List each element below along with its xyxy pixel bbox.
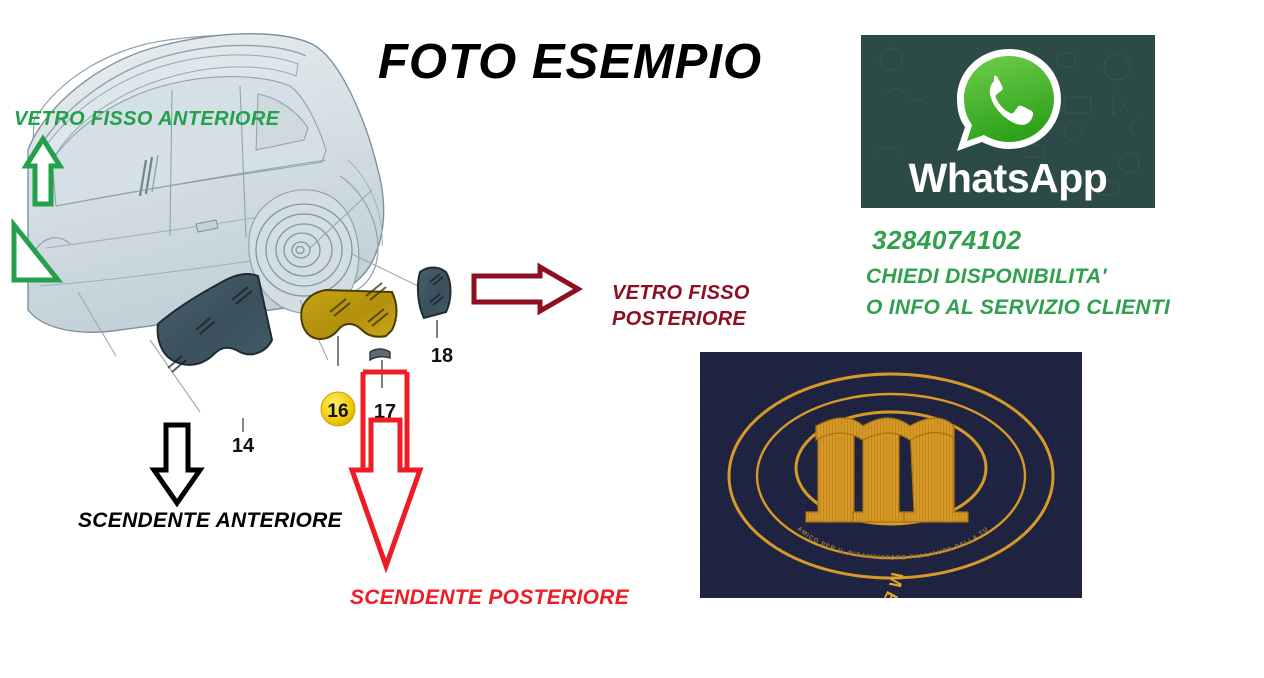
contact-line-2: O INFO AL SERVIZIO CLIENTI — [866, 296, 1170, 320]
poster-canvas: 14 16 17 — [0, 0, 1264, 678]
label-vetro-fisso-posteriore: VETRO FISSO POSTERIORE — [612, 280, 750, 332]
arrow-right-darkred — [474, 267, 578, 311]
label-vetro-fisso-anteriore: VETRO FISSO ANTERIORE — [14, 108, 279, 131]
shop-logo-monogram — [806, 418, 968, 522]
label-scendente-anteriore: SCENDENTE ANTERIORE — [78, 509, 342, 533]
part-number-18: 18 — [431, 345, 453, 367]
part-number-14: 14 — [232, 435, 255, 457]
arrow-down-black — [154, 425, 200, 503]
whatsapp-phone-icon — [943, 41, 1073, 159]
part-number-16: 16 — [327, 401, 348, 422]
shop-logo: MRICAMBISTORE SERVICE DI RUSSO MARCO IL … — [700, 352, 1082, 598]
glass-part-18: 18 — [418, 268, 453, 368]
car-parts-diagram: 14 16 17 — [0, 0, 700, 640]
part-17-group: 17 — [370, 349, 396, 423]
page-title: FOTO ESEMPIO — [378, 34, 762, 90]
phone-number[interactable]: 3284074102 — [872, 225, 1022, 256]
label-vfp-line2: POSTERIORE — [612, 306, 750, 332]
contact-line-1: CHIEDI DISPONIBILITA' — [866, 265, 1107, 289]
whatsapp-banner: WhatsApp — [861, 35, 1155, 208]
car-illustration — [28, 34, 384, 332]
label-scendente-posteriore: SCENDENTE POSTERIORE — [350, 586, 629, 610]
whatsapp-wordmark: WhatsApp — [861, 155, 1155, 202]
shop-logo-artwork: MRICAMBISTORE SERVICE DI RUSSO MARCO IL … — [700, 352, 1082, 598]
label-vfp-line1: VETRO FISSO — [612, 280, 750, 306]
